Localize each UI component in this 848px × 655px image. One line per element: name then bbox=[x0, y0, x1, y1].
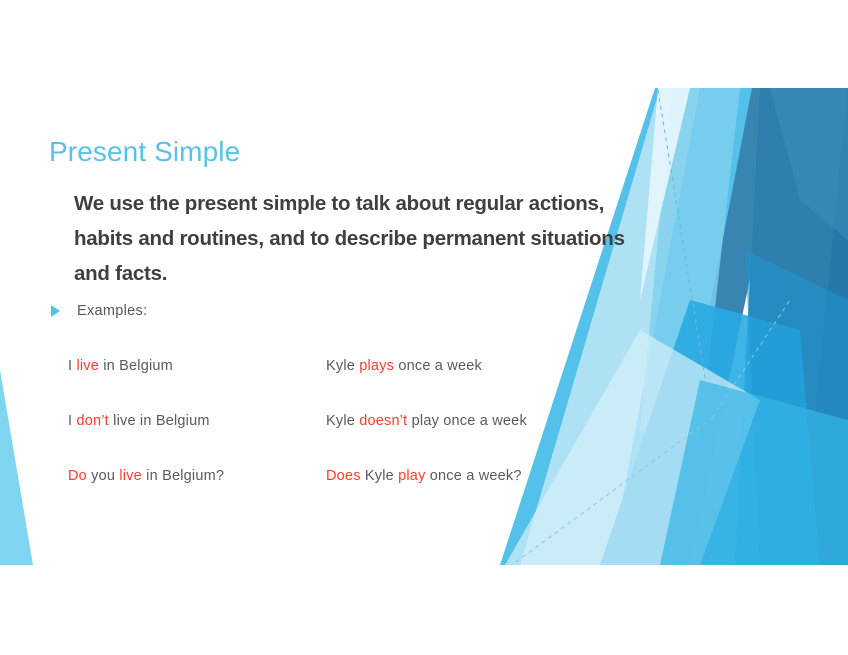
highlighted-verb: play bbox=[398, 468, 425, 484]
example-sentence-left: Do you live in Belgium? bbox=[68, 468, 326, 523]
example-sentence-right: Kyle plays once a week bbox=[326, 358, 588, 413]
example-sentence-right: Kyle doesn’t play once a week bbox=[326, 413, 588, 468]
example-sentence-right: Does Kyle play once a week? bbox=[326, 468, 588, 523]
highlighted-verb: doesn’t bbox=[359, 413, 407, 429]
examples-grid: I live in BelgiumKyle plays once a weekI… bbox=[68, 358, 588, 523]
sentence-text: once a week? bbox=[426, 468, 522, 484]
sentence-text: Kyle bbox=[326, 358, 359, 374]
highlighted-verb: Does bbox=[326, 468, 361, 484]
slide-canvas: Present Simple We use the present simple… bbox=[0, 0, 848, 655]
dashed-diagonal-steep bbox=[658, 90, 712, 420]
sentence-text: you bbox=[87, 468, 119, 484]
highlighted-verb: Do bbox=[68, 468, 87, 484]
example-sentence-left: I live in Belgium bbox=[68, 358, 326, 413]
example-row: I live in BelgiumKyle plays once a week bbox=[68, 358, 588, 413]
decorative-geometric-artwork bbox=[0, 0, 848, 655]
sentence-text: once a week bbox=[394, 358, 482, 374]
sentence-text: live in Belgium bbox=[109, 413, 210, 429]
sentence-text: in Belgium bbox=[99, 358, 173, 374]
sentence-text: Kyle bbox=[326, 413, 359, 429]
sentence-text: in Belgium? bbox=[142, 468, 224, 484]
triangle-bullet-icon bbox=[51, 305, 60, 317]
highlighted-verb: live bbox=[76, 358, 99, 374]
sentence-text: play once a week bbox=[407, 413, 526, 429]
slide-title: Present Simple bbox=[49, 136, 240, 168]
decorative-left-wedge bbox=[0, 0, 848, 655]
highlighted-verb: live bbox=[119, 468, 142, 484]
dashed-diagonal-upper bbox=[712, 300, 790, 418]
highlighted-verb: don’t bbox=[76, 413, 108, 429]
example-row: I don’t live in BelgiumKyle doesn’t play… bbox=[68, 413, 588, 468]
example-row: Do you live in Belgium?Does Kyle play on… bbox=[68, 468, 588, 523]
examples-label: Examples: bbox=[77, 303, 147, 319]
sentence-text: Kyle bbox=[361, 468, 398, 484]
example-sentence-left: I don’t live in Belgium bbox=[68, 413, 326, 468]
examples-bullet-row: Examples: bbox=[51, 303, 147, 319]
slide-lead-paragraph: We use the present simple to talk about … bbox=[74, 186, 649, 291]
highlighted-verb: plays bbox=[359, 358, 394, 374]
